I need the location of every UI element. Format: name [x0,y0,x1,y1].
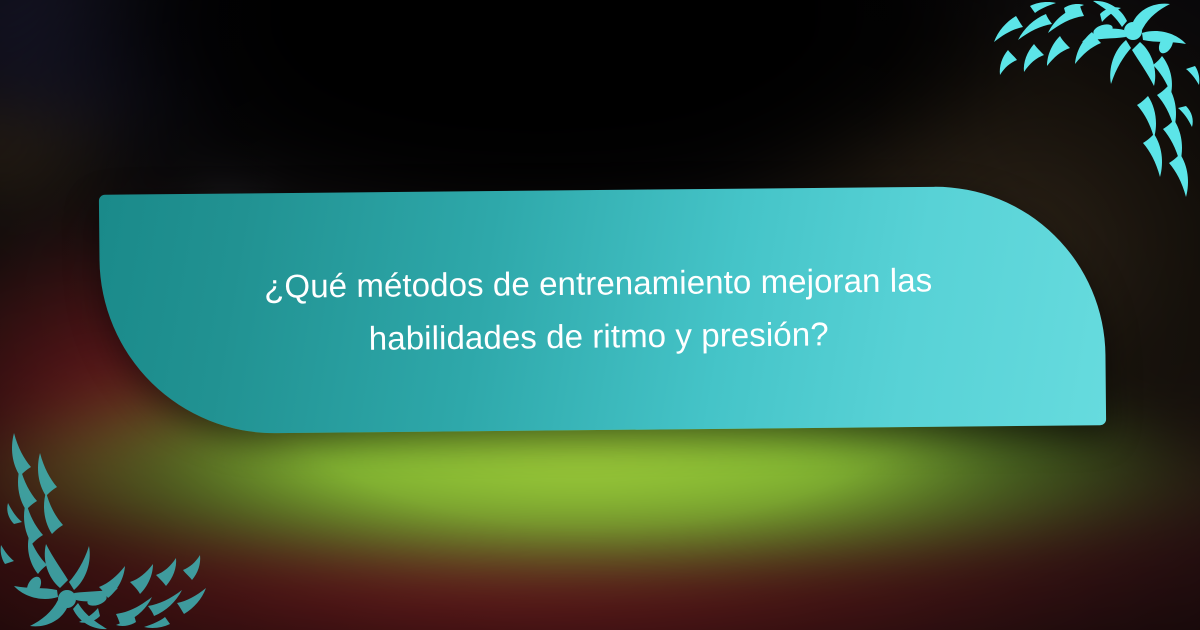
headline-text: ¿Qué métodos de entrenamiento mejoran la… [212,253,986,367]
damask-ornament-bottom-left-icon [0,430,210,630]
share-card: ¿Qué métodos de entrenamiento mejoran la… [0,0,1200,630]
damask-ornament-top-right-icon [990,0,1200,200]
headline-banner: ¿Qué métodos de entrenamiento mejoran la… [99,185,1106,435]
